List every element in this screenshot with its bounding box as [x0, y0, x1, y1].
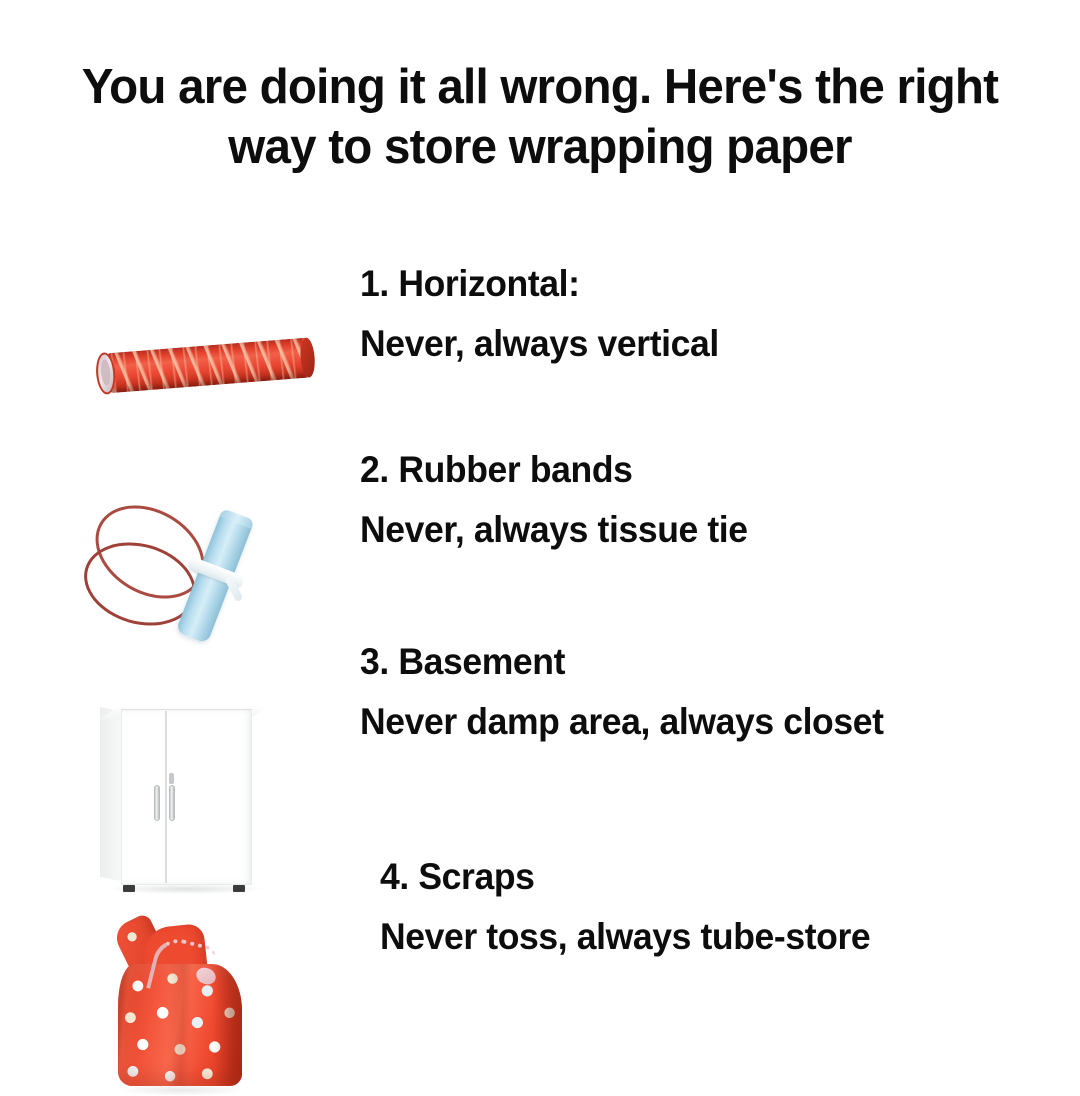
- roll-body: [103, 337, 314, 393]
- tip-4-advice: Never toss, always tube-store: [380, 915, 870, 959]
- tip-3-text: 3. Basement Never damp area, always clos…: [360, 640, 905, 743]
- tip-3-heading: 3. Basement: [360, 640, 884, 684]
- tip-4-heading: 4. Scraps: [380, 855, 870, 899]
- tip-3-advice: Never damp area, always closet: [360, 700, 884, 744]
- page-title: You are doing it all wrong. Here's the r…: [74, 58, 1005, 178]
- tip-2-text: 2. Rubber bands Never, always tissue tie: [360, 448, 764, 551]
- tip-row-2: 2. Rubber bands Never, always tissue tie: [0, 448, 764, 551]
- cabinet-handle-left: [154, 785, 160, 821]
- tip-2-advice: Never, always tissue tie: [360, 508, 748, 552]
- polka-dot-gift-bag-icon: [100, 912, 290, 1092]
- cabinet-handle-right: [169, 785, 175, 821]
- page-title-line-1: You are doing it all wrong. Here's the: [82, 60, 884, 114]
- tip-row-4: 4. Scraps Never toss, always tube-store: [0, 855, 891, 958]
- tip-1-text: 1. Horizontal: Never, always vertical: [360, 262, 734, 365]
- tip-row-3: 3. Basement Never damp area, always clos…: [0, 640, 905, 743]
- tip-2-heading: 2. Rubber bands: [360, 448, 748, 492]
- infographic-page: You are doing it all wrong. Here's the r…: [0, 0, 1080, 1080]
- tip-row-1: 1. Horizontal: Never, always vertical: [0, 262, 734, 365]
- wrapping-paper-roll-icon: [86, 327, 315, 406]
- tip-1-advice: Never, always vertical: [360, 322, 719, 366]
- tip-1-heading: 1. Horizontal:: [360, 262, 719, 306]
- tip-4-text: 4. Scraps Never toss, always tube-store: [380, 855, 891, 958]
- cabinet-lock-icon: [169, 773, 174, 784]
- rubber-bands-icon: [80, 504, 330, 654]
